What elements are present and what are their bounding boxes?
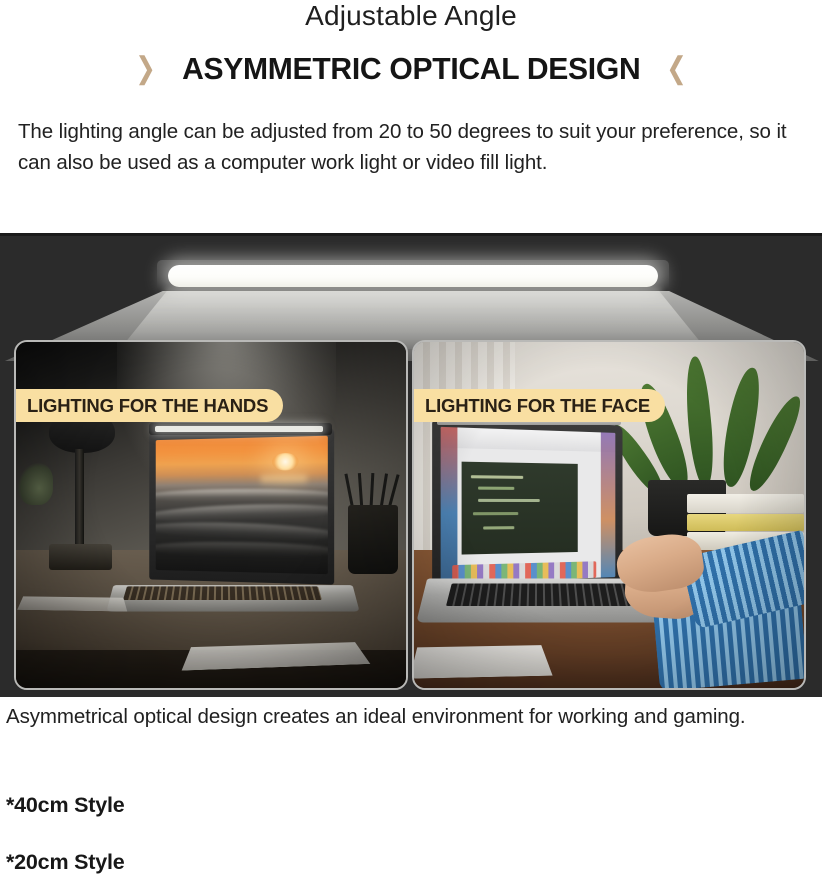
page-title: ASYMMETRIC OPTICAL DESIGN [182, 50, 640, 88]
badge-lighting-for-hands: LIGHTING FOR THE HANDS [14, 389, 283, 422]
led-light-bar [157, 260, 669, 294]
panel-top-edge [0, 233, 822, 236]
intro-paragraph: The lighting angle can be adjusted from … [18, 116, 812, 178]
product-showcase-panel: LIGHTING FOR THE HANDS [0, 233, 822, 697]
chevron-right-icon: ❯ [135, 54, 156, 84]
badge-lighting-for-face: LIGHTING FOR THE FACE [412, 389, 665, 422]
photo-lighting-for-face: LIGHTING FOR THE FACE [412, 340, 806, 690]
led-tube [168, 265, 658, 287]
eyebrow-title: Adjustable Angle [0, 0, 822, 34]
chevron-left-icon: ❮ [666, 54, 687, 84]
style-option-40cm: *40cm Style [6, 793, 125, 818]
headline-row: ❯ ASYMMETRIC OPTICAL DESIGN ❮ [0, 50, 822, 88]
photo-lighting-for-hands: LIGHTING FOR THE HANDS [14, 340, 408, 690]
style-option-20cm: *20cm Style [6, 850, 125, 875]
footer-caption: Asymmetrical optical design creates an i… [6, 702, 806, 732]
